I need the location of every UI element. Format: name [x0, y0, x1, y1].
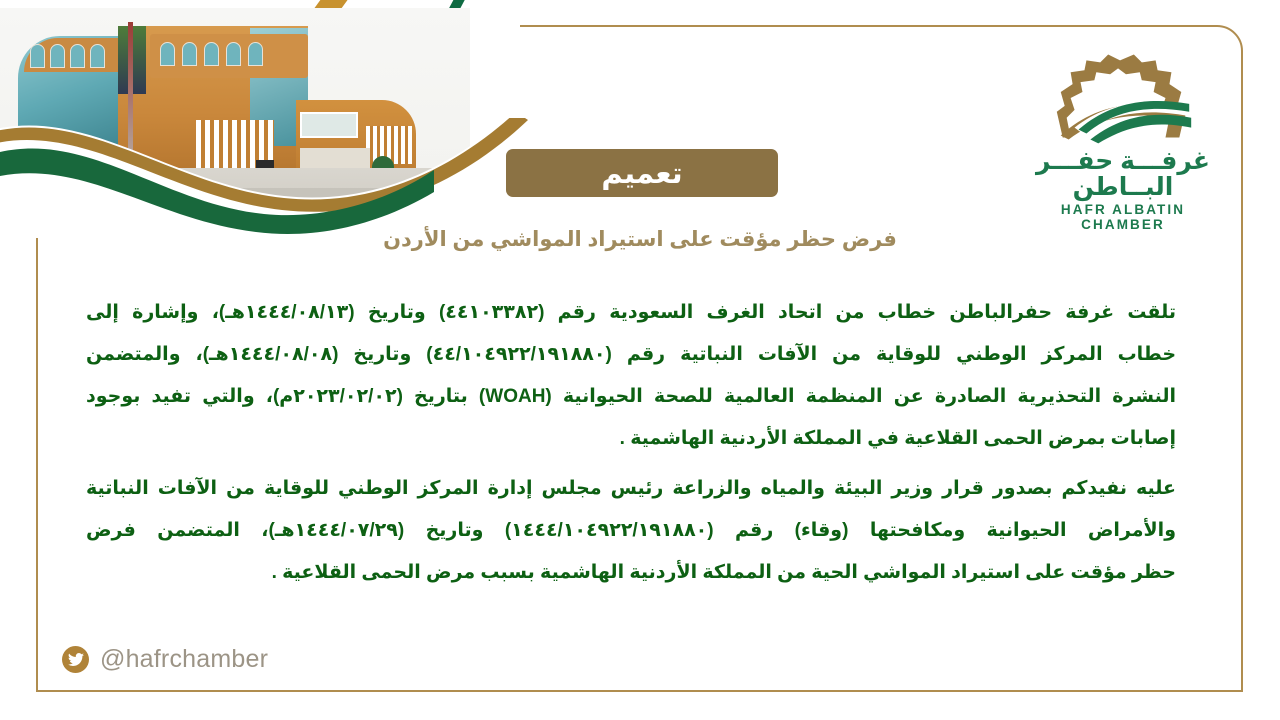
- twitter-bird-glyph: [68, 653, 84, 667]
- building-window: [50, 44, 65, 68]
- building-window: [90, 44, 105, 68]
- page-title: فرض حظر مؤقت على استيراد المواشي من الأر…: [0, 227, 1280, 252]
- social-footer[interactable]: @hafrchamber: [62, 645, 268, 674]
- building-window: [248, 42, 263, 66]
- building-window: [30, 44, 45, 68]
- twitter-bird-icon[interactable]: [62, 646, 89, 673]
- building-window: [70, 44, 85, 68]
- building-window: [226, 42, 241, 66]
- building-window: [182, 42, 197, 66]
- chamber-logo: غرفـــة حفـــر البــاطن HAFR ALBATIN CHA…: [1018, 48, 1228, 232]
- body-line: النشرة التحذيرية الصادرة عن المنظمة العا…: [86, 376, 1176, 418]
- logo-arabic-name: غرفـــة حفـــر البــاطن: [1018, 148, 1228, 201]
- building-window: [160, 42, 175, 66]
- body-line: خطاب المركز الوطني للوقاية من الآفات الن…: [86, 334, 1176, 376]
- paragraph-1: تلقت غرفة حفرالباطن خطاب من اتحاد الغرف …: [86, 292, 1176, 460]
- document-body: تلقت غرفة حفرالباطن خطاب من اتحاد الغرف …: [86, 292, 1176, 600]
- body-line: تلقت غرفة حفرالباطن خطاب من اتحاد الغرف …: [86, 292, 1176, 334]
- body-line: حظر مؤقت على استيراد المواشي الحية من ال…: [86, 552, 1176, 594]
- twitter-handle[interactable]: @hafrchamber: [100, 645, 268, 674]
- body-line: إصابات بمرض الحمى القلاعية في المملكة ال…: [86, 418, 1176, 460]
- body-line: والأمراض الحيوانية ومكافحتها (وقاء) رقم …: [86, 510, 1176, 552]
- paragraph-2: عليه نفيدكم بصدور قرار وزير البيئة والمي…: [86, 468, 1176, 594]
- body-line: عليه نفيدكم بصدور قرار وزير البيئة والمي…: [86, 468, 1176, 510]
- circular-type-badge: تعميم: [506, 149, 778, 197]
- poster-canvas: غرفـــة حفـــر البــاطن HAFR ALBATIN CHA…: [0, 0, 1280, 720]
- building-window: [204, 42, 219, 66]
- swoosh-decoration: [0, 118, 554, 238]
- chamber-arch-mark: [1039, 48, 1207, 144]
